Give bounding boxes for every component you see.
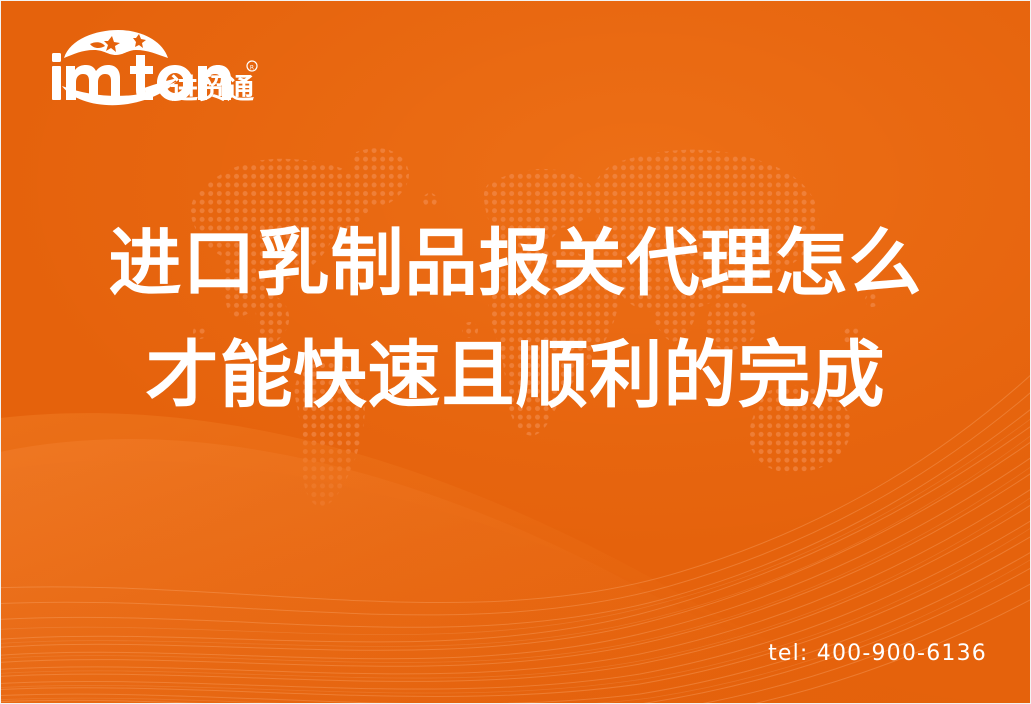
contact-phone: tel: 400-900-6136 [768, 641, 987, 666]
globe-swoosh-logo: 进贸通 R [44, 28, 274, 108]
brand-logo[interactable]: 进贸通 R imton 进贸通 [44, 28, 274, 108]
trademark-symbol: R [250, 65, 254, 72]
promo-banner: 进贸通 R imton 进贸通 进口乳制品报关代理怎么 才能快速且顺利的完成 t… [0, 0, 1031, 704]
page-title: 进口乳制品报关代理怎么 才能快速且顺利的完成 [0, 208, 1031, 432]
headline-line-1: 进口乳制品报关代理怎么 [0, 208, 1031, 320]
headline-line-2: 才能快速且顺利的完成 [0, 320, 1031, 432]
logo-chinese-name: 进贸通 [170, 72, 254, 105]
